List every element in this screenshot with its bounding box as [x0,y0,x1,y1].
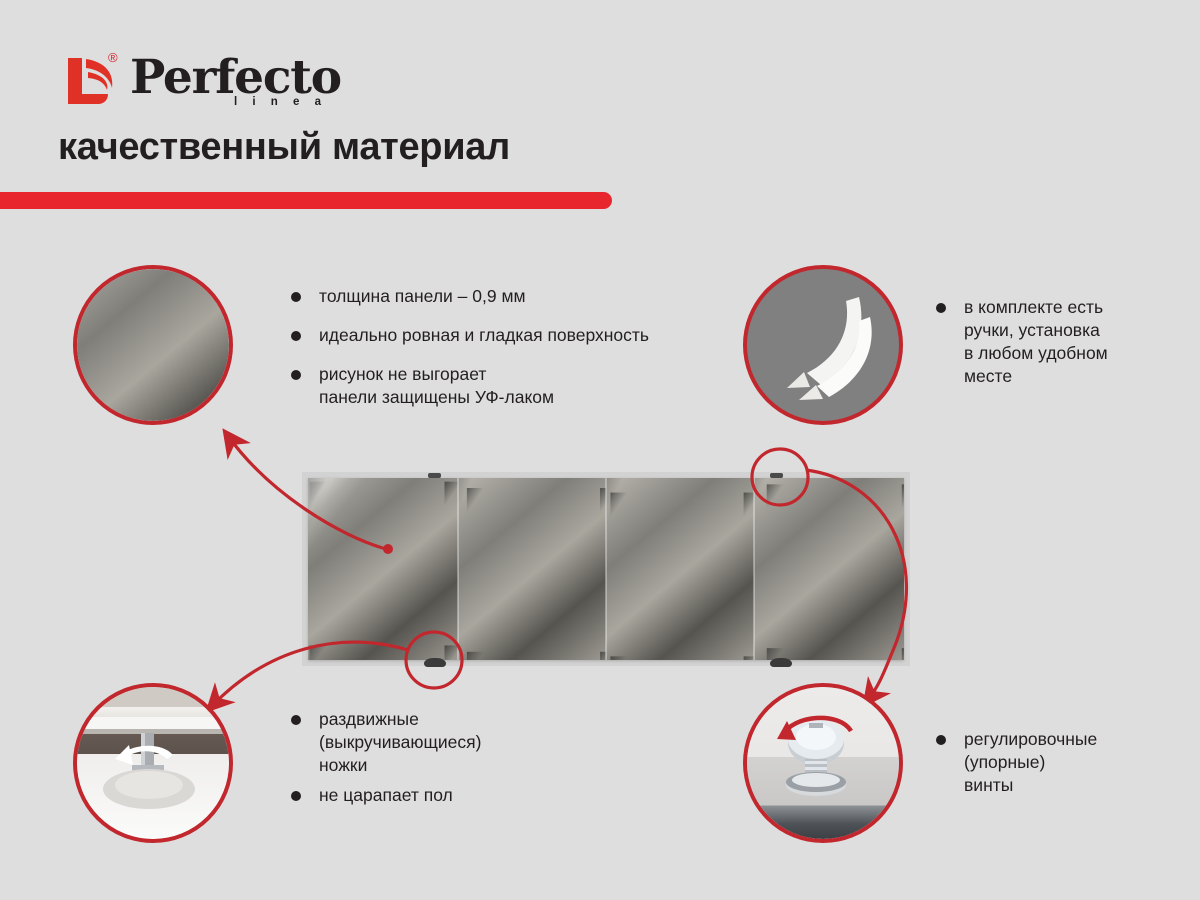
bath-screen-panel [308,478,904,660]
list-item: регулировочные (упорные) винты [936,728,1186,797]
list-item: в комплекте есть ручки, установка в любо… [936,296,1176,388]
list-item: раздвижные (выкручивающиеся) ножки [291,708,561,777]
panel-slab [308,478,458,660]
infographic-page: ® Perfecto l i n e a качественный матери… [0,0,1200,900]
title-accent-rule [0,192,612,209]
page-title: качественный материал [58,126,510,169]
panel-foot [770,658,792,667]
slab-seam [605,478,607,660]
panel-slab [754,478,904,660]
panel-slab [606,478,754,660]
adjusting-screw-photo [743,683,903,843]
handle-grip-photo [743,265,903,425]
brand-logo: ® Perfecto l i n e a [62,52,332,114]
adjustable-leg-photo [73,683,233,843]
handle-grip-icon [747,269,899,421]
brand-tagline: l i n e a [234,96,327,108]
slab-seam [457,478,459,660]
adjusting-screw-icon [747,687,899,839]
bullets-bottom-right: регулировочные (упорные) винты [936,728,1186,813]
adjustable-leg-icon [77,687,229,839]
panel-top-screw [428,473,441,478]
slab-seam [753,478,755,660]
marble-texture-closeup-icon [77,269,229,421]
panel-foot [424,658,446,667]
panel-top-screw [770,473,783,478]
panel-slab [458,478,606,660]
bullets-top-left: толщина панели – 0,9 мм идеально ровная … [291,285,721,425]
bullets-top-right: в комплекте есть ручки, установка в любо… [936,296,1176,404]
registered-mark: ® [108,50,118,65]
list-item: рисунок не выгорает панели защищены УФ-л… [291,363,721,409]
bullets-bottom-left: раздвижные (выкручивающиеся) ножки не ца… [291,708,561,823]
list-item: идеально ровная и гладкая поверхность [291,324,721,347]
list-item: не царапает пол [291,784,561,807]
marble-texture-photo [73,265,233,425]
list-item: толщина панели – 0,9 мм [291,285,721,308]
